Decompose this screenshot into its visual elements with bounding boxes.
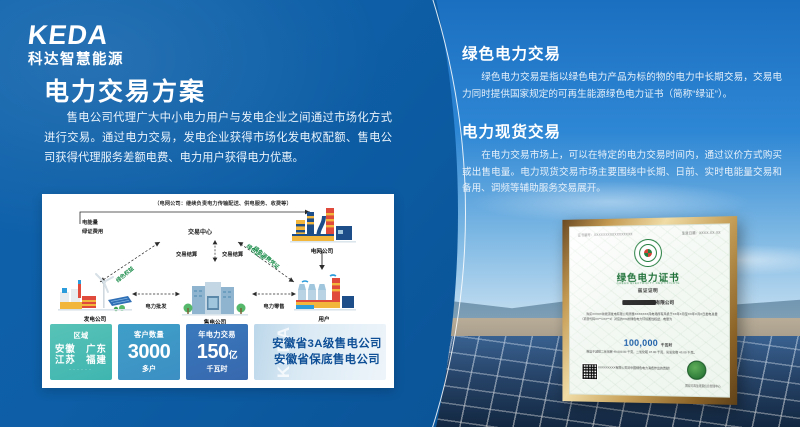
certificate-company-suffix: 有限公司 [656, 300, 674, 305]
certificate-paragraph-1: 购买XXXXX新能源发电有限公司所属XXXXXXX风电场所有风机于XX年X月至X… [581, 312, 718, 321]
retail-company-icon [182, 280, 248, 318]
stat-volume-unit: 亿 [229, 350, 238, 360]
transaction-flow-diagram: （电网公司：继续负责电力传输配送、供电服务、收费等） [42, 194, 394, 336]
label-retail: 电力零售 [263, 302, 284, 310]
banner-line-1: 安徽省3A级售电公司 [272, 336, 382, 352]
certificate-issuer: 国家可再生能源信息管理中心 [685, 384, 721, 389]
stats-banner: KEDA 安徽省3A级售电公司 安徽省保底售电公司 [254, 324, 386, 380]
logo-wordmark: KEDA [26, 22, 125, 49]
certificate-stamp-icon [687, 360, 706, 379]
stat-region-row-1: 安徽 广东 [55, 343, 107, 354]
stat-volume-value: 150 [197, 341, 229, 363]
certificate-number: 证书编号：XXXXXXXXXXXXXXXXX [578, 231, 633, 237]
section-green-power-trading: 绿色电力交易 绿色电力交易是指以绿色电力产品为标的物的电力中长期交易，交易电力同… [462, 42, 782, 103]
stat-customers-sub: 多户 [142, 364, 156, 374]
certificate-company-redacted: XXXXXXXXXXX [622, 300, 655, 305]
node-user: 用户 [318, 315, 329, 323]
certificate-amount-value: 100,000 [624, 338, 658, 348]
certificate-inner: 证书编号：XXXXXXXXXXXXXXXXX 生效日期：XXXX-XX-XX 绿… [569, 223, 730, 397]
qr-code-icon [582, 363, 598, 380]
section-spot-body: 在电力交易市场上，可以在特定的电力交易时间内，通过议价方式购买或出售电量。电力现… [462, 148, 782, 198]
node-generator: 发电公司 [84, 315, 106, 323]
page-title: 电力交易方案 [44, 72, 206, 108]
stat-customers-value: 3000 [128, 341, 171, 363]
label-energy: 电能量 [82, 218, 98, 226]
stat-customers-caption: 客户数量 [134, 330, 164, 340]
label-settle-left: 交易结算 [176, 250, 197, 258]
stat-region-row-2: 江苏 福建 [55, 354, 107, 365]
user-factory-icon [294, 274, 356, 314]
certificate-amount: 100,000 千瓦时 [570, 337, 729, 348]
page-paragraph: 售电公司代理广大中小电力用户与发电企业之间通过市场化方式进行交易。通过电力交易，… [44, 108, 392, 168]
section-spot-trading: 电力现货交易 在电力交易市场上，可以在特定的电力交易时间内，通过议价方式购买或出… [462, 120, 782, 198]
certificate-company: XXXXXXXXXXX有限公司 [570, 300, 729, 306]
certificate-amount-unit: 千瓦时 [661, 343, 673, 347]
logo-subtitle: 科达智慧能源 [28, 53, 124, 68]
grid-company-icon [290, 206, 356, 246]
certificate-frame: 证书编号：XXXXXXXXXXXXXXXXX 生效日期：XXXX-XX-XX 绿… [562, 216, 737, 405]
node-gridco: 电网公司 [311, 247, 333, 255]
stat-region-caption: 区域 [74, 331, 89, 341]
section-green-title: 绿色电力交易 [462, 42, 782, 64]
brand-logo: KEDA 科达智慧能源 [28, 22, 124, 68]
content-card: （电网公司：继续负责电力传输配送、供电服务、收费等） [42, 194, 394, 388]
stat-customers: 客户数量 3000 多户 [118, 324, 180, 380]
certificate-subtitle: 兹证证明 [570, 288, 729, 295]
label-wholesale: 电力批发 [145, 302, 166, 310]
banner-line-2: 安徽省保底售电公司 [272, 352, 382, 368]
label-trade-center: 交易中心 [188, 227, 212, 236]
stat-region-dots: ······ [69, 367, 93, 373]
section-spot-title: 电力现货交易 [462, 120, 782, 142]
stats-strip: 区域 安徽 广东 江苏 福建 ······ 客户数量 3000 多户 年电力交易… [50, 324, 386, 380]
slide-canvas: KEDA 科达智慧能源 电力交易方案 售电公司代理广大中小电力用户与发电企业之间… [0, 0, 800, 427]
green-certificate: 证书编号：XXXXXXXXXXXXXXXXX 生效日期：XXXX-XX-XX 绿… [562, 216, 737, 405]
certificate-seal-icon [634, 239, 662, 267]
label-settle-right: 交易结算 [222, 250, 243, 258]
stat-volume-sub: 千瓦时 [207, 364, 228, 374]
stat-region: 区域 安徽 广东 江苏 福建 ······ [50, 324, 112, 380]
label-green-fee: 绿证费用 [82, 227, 103, 235]
stat-volume-caption: 年电力交易 [198, 330, 235, 340]
section-green-body: 绿色电力交易是指以绿色电力产品为标的物的电力中长期交易，交易电力同时提供国家规定… [462, 70, 782, 103]
certificate-date: 生效日期：XXXX-XX-XX [682, 230, 721, 236]
stat-volume: 年电力交易 150亿 千瓦时 [186, 324, 248, 380]
